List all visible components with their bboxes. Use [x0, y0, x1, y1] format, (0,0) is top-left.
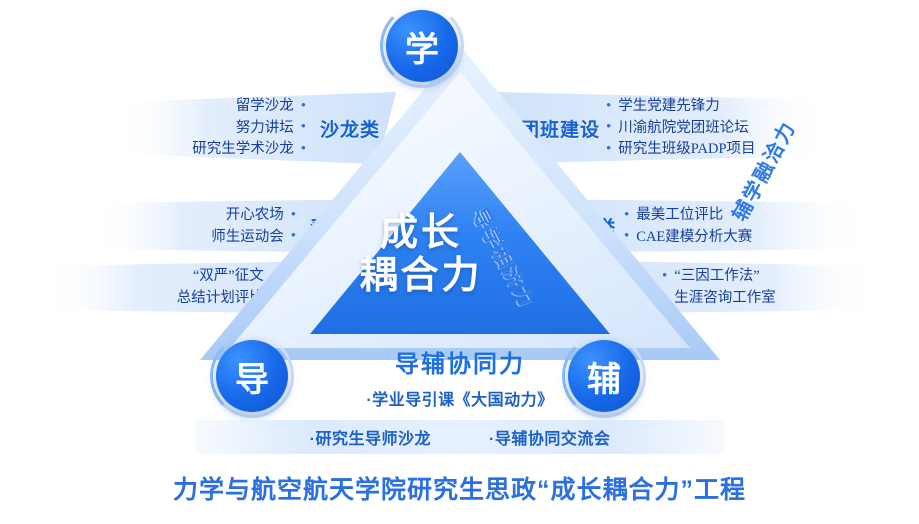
main-title: 力学与航空航天学院研究生思政“成长耦合力”工程	[0, 470, 919, 506]
bottom-bar: ·研究生导师沙龙 ·导辅协同交流会	[196, 420, 724, 454]
infographic-canvas: 留学沙龙 • 努力讲坛 • 研究生学术沙龙 • 沙龙类	[0, 0, 919, 524]
core-line-2: 耦合力	[336, 255, 506, 298]
bottom-bar-item: ·研究生导师沙龙	[310, 425, 431, 449]
node-dao[interactable]: 导	[216, 340, 288, 412]
core-label: 成长 耦合力	[336, 212, 506, 297]
triangle-svg	[196, 42, 724, 372]
node-label: 导	[216, 340, 288, 412]
triangle-graphic: 导学相济力 辅学融洽力	[196, 42, 724, 372]
node-xue[interactable]: 学	[386, 10, 458, 82]
bottom-title: 导辅协同力	[300, 344, 620, 379]
bottom-highlight-item: ·学业导引课《大国动力》	[280, 386, 640, 410]
core-line-1: 成长	[336, 212, 506, 255]
bottom-bar-item: ·导辅协同交流会	[489, 425, 610, 449]
node-label: 学	[386, 10, 458, 82]
